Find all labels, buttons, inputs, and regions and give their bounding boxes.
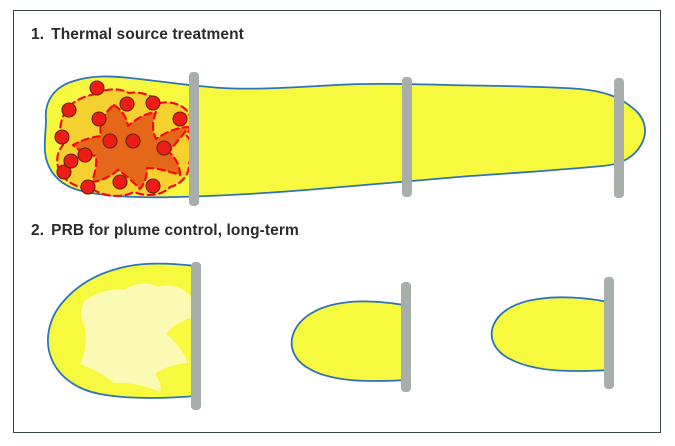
well-dot	[146, 96, 160, 110]
prb-wall-bot-mid	[401, 282, 411, 392]
well-dot	[81, 180, 95, 194]
well-dot	[173, 112, 187, 126]
panel-label-prb: 2.PRB for plume control, long-term	[31, 222, 299, 240]
well-dot	[90, 81, 104, 95]
prb-wall-bot-left	[191, 262, 201, 410]
well-dot	[126, 134, 140, 148]
prb-wall-bot-right	[604, 277, 614, 389]
well-dot	[64, 154, 78, 168]
well-dot	[78, 148, 92, 162]
well-dot	[62, 103, 76, 117]
well-dot	[92, 112, 106, 126]
well-dot	[55, 130, 69, 144]
panel-thermal-graphics	[45, 72, 645, 206]
panel-title-thermal: Thermal source treatment	[51, 26, 244, 43]
plume-prb-middle	[292, 301, 404, 381]
panel-prb-graphics	[48, 262, 614, 410]
prb-wall-top-left	[189, 72, 199, 206]
prb-wall-top-mid	[402, 77, 412, 197]
prb-wall-top-right	[614, 78, 624, 198]
well-dot	[120, 97, 134, 111]
well-dot	[103, 134, 117, 148]
well-dot	[146, 179, 160, 193]
panel-number-thermal: 1.	[31, 26, 44, 43]
plume-prb-right	[492, 297, 608, 371]
panel-number-prb: 2.	[31, 222, 44, 239]
panel-title-prb: PRB for plume control, long-term	[51, 222, 299, 239]
well-dot	[113, 175, 127, 189]
panel-label-thermal: 1.Thermal source treatment	[31, 26, 244, 44]
well-dot	[157, 141, 171, 155]
figure-root: 1.Thermal source treatment 2.PRB for plu…	[0, 0, 675, 446]
